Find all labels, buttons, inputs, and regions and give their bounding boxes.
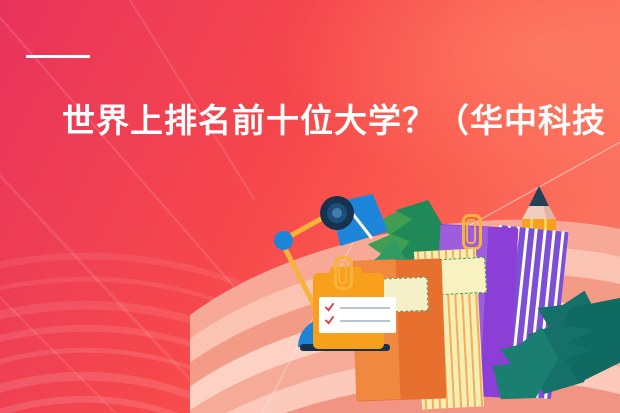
lamp-joint <box>274 231 293 250</box>
checklist-line <box>340 320 390 322</box>
paperclip-inner-icon <box>338 261 347 284</box>
study-desk-illustration <box>268 178 620 413</box>
decorative-dash <box>26 55 90 58</box>
lamp-hinge-inner <box>332 208 342 218</box>
banner: 世界上排名前十位大学？（华中科技 <box>0 0 620 413</box>
paperclip-inner-icon <box>466 219 476 244</box>
checkmark-icon <box>325 303 334 312</box>
checkmark-icon <box>325 316 334 325</box>
checklist-line <box>340 307 390 309</box>
paper-note-label <box>439 257 487 295</box>
page-title: 世界上排名前十位大学？（华中科技 <box>62 100 620 142</box>
pencil-tip-icon <box>529 186 549 206</box>
